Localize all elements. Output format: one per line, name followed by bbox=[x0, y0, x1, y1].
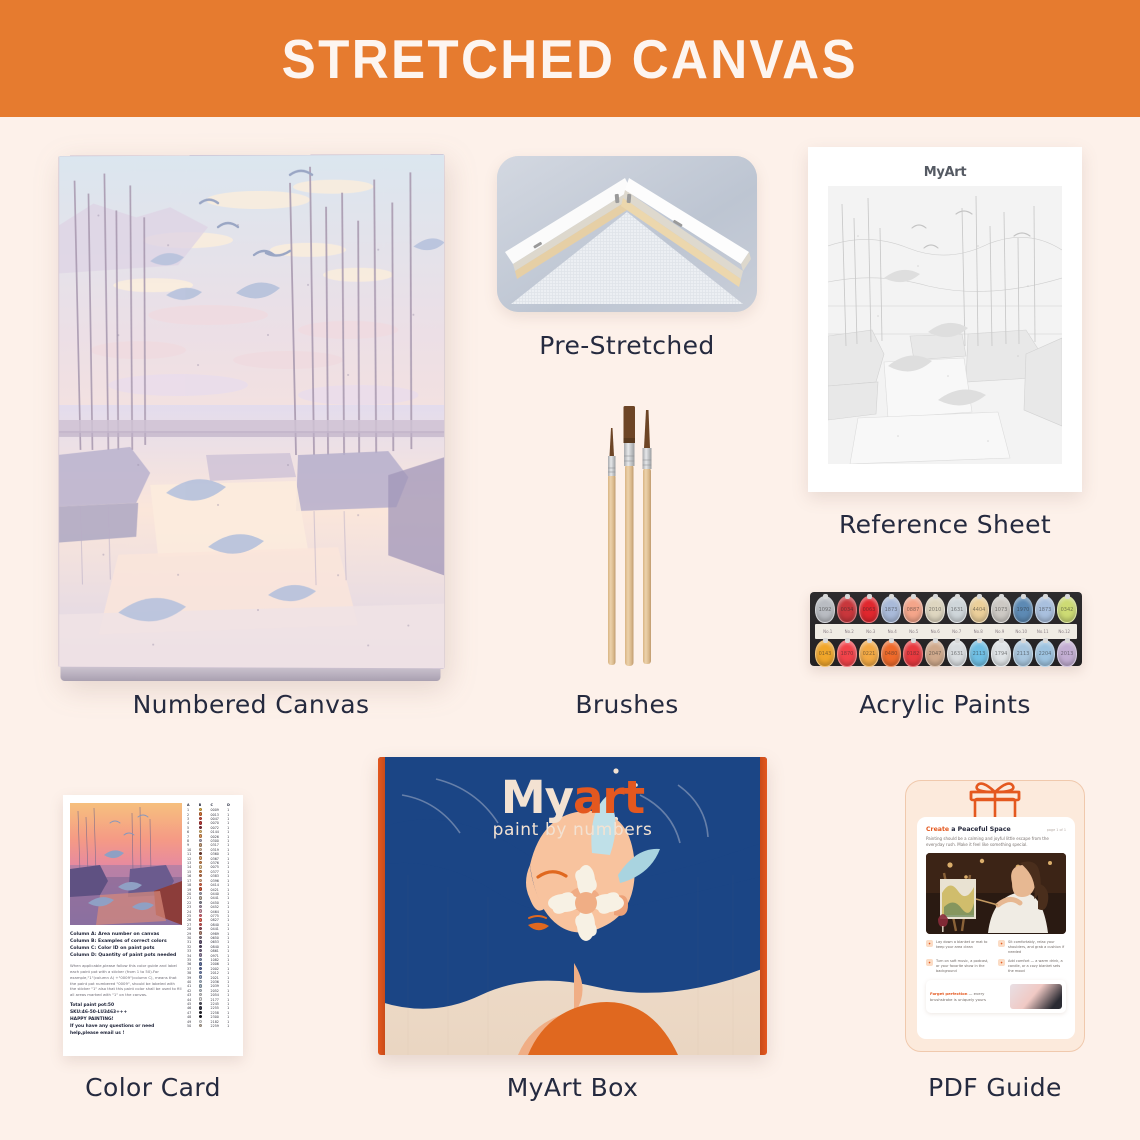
pdf-tip-icon: ✦ bbox=[998, 959, 1005, 966]
color-card-paint-id: 0009 bbox=[211, 808, 228, 812]
color-card-column-desc-3: Column C: Color ID on paint pots bbox=[70, 945, 182, 952]
color-card-area-number: 21 bbox=[187, 896, 199, 900]
color-card-paint-id: 0319 bbox=[211, 848, 228, 852]
paint-pot-bottom-11: 2204 bbox=[1035, 640, 1055, 667]
color-card-area-number: 42 bbox=[187, 989, 199, 993]
paint-pot-id: 4404 bbox=[970, 597, 988, 622]
color-card-quantity: 1 bbox=[227, 870, 236, 874]
color-card-paint-id: 0072 bbox=[211, 826, 228, 830]
color-card-quantity: 1 bbox=[227, 918, 236, 922]
paint-pot-id: 2113 bbox=[970, 641, 988, 666]
color-card-area-number: 47 bbox=[187, 1011, 199, 1015]
color-card-area-number: 10 bbox=[187, 848, 199, 852]
color-card-paint-id: 2021 bbox=[211, 976, 228, 980]
color-card-table-body: 1000912001313004714007015007216014417002… bbox=[187, 808, 236, 1028]
color-card-paint-id: 0013 bbox=[211, 813, 228, 817]
color-card-quantity: 1 bbox=[227, 857, 236, 861]
color-card-paint-id: 0861 bbox=[211, 949, 228, 953]
paint-pot-id: 1631 bbox=[948, 641, 966, 666]
color-card-quantity: 1 bbox=[227, 927, 236, 931]
paint-pot-row-bottom: 0143187002210480018220471631211317942113… bbox=[815, 640, 1077, 667]
color-card-column-desc-2: Column B: Examples of correct colors bbox=[70, 938, 182, 945]
color-card-area-number: 26 bbox=[187, 918, 199, 922]
color-card-quantity: 1 bbox=[227, 962, 236, 966]
box-tagline: paint by numbers bbox=[378, 820, 767, 840]
color-card-th: B bbox=[199, 803, 211, 807]
reference-sheet-artwork bbox=[828, 186, 1062, 464]
paint-pot-id: 0143 bbox=[816, 641, 834, 666]
reference-sheet-product: MyArt bbox=[808, 147, 1082, 492]
acrylic-paints-product: 1092003400631873088720101631440410731970… bbox=[810, 592, 1082, 666]
color-card-area-number: 22 bbox=[187, 901, 199, 905]
color-card-paint-id: 0421 bbox=[211, 888, 228, 892]
color-card-area-number: 46 bbox=[187, 1006, 199, 1010]
color-card-quantity: 1 bbox=[227, 892, 236, 896]
paint-pot-bottom-1: 0143 bbox=[815, 640, 835, 667]
paint-pot-bottom-8: 2113 bbox=[969, 640, 989, 667]
pdf-note-text: Forget perfection — every brushstroke is… bbox=[930, 991, 1005, 1002]
numbered-canvas-product bbox=[58, 155, 444, 668]
pdf-tip-4: ✦Add comfort — a warm drink, a candle, o… bbox=[998, 959, 1065, 974]
paint-strip-cell: No.7 bbox=[946, 629, 968, 634]
color-card-quantity: 1 bbox=[227, 813, 236, 817]
color-card-footer-line-2: SKU:46-50-LU3463+++ bbox=[70, 1009, 182, 1016]
paint-pot-top-3: 0063 bbox=[859, 596, 879, 623]
color-card-quantity: 1 bbox=[227, 852, 236, 856]
paint-pot-bottom-7: 1631 bbox=[947, 640, 967, 667]
color-card-quantity: 1 bbox=[227, 861, 236, 865]
paint-pot-top-6: 2010 bbox=[925, 596, 945, 623]
pdf-tip-icon: ✦ bbox=[926, 940, 933, 947]
color-card-quantity: 1 bbox=[227, 830, 236, 834]
caption-acrylic-paints: Acrylic Paints bbox=[808, 690, 1082, 719]
paint-pot-bottom-9: 1794 bbox=[991, 640, 1011, 667]
caption-color-card: Color Card bbox=[20, 1073, 286, 1102]
color-card-area-number: 9 bbox=[187, 843, 199, 847]
paint-pot-id: 2013 bbox=[1058, 641, 1076, 666]
color-card-paint-id: 2245 bbox=[211, 1002, 228, 1006]
paint-pot-id: 0480 bbox=[882, 641, 900, 666]
paint-strip-cell: No.9 bbox=[989, 629, 1011, 634]
color-card-area-number: 37 bbox=[187, 967, 199, 971]
color-card-columns: Column A: Area number on canvasColumn B:… bbox=[70, 931, 182, 959]
pdf-tip-1: ✦Lay down a blanket or mat to keep your … bbox=[926, 940, 993, 955]
pdf-tip-icon: ✦ bbox=[998, 940, 1005, 947]
color-card-swatch bbox=[199, 1024, 211, 1028]
color-card-paint-id: 0383 bbox=[211, 874, 228, 878]
box-logo-my: My bbox=[501, 771, 573, 824]
color-card-th: A bbox=[187, 803, 199, 807]
color-card-paint-id: 0450 bbox=[211, 901, 228, 905]
color-card-quantity: 1 bbox=[227, 958, 236, 962]
color-card-quantity: 1 bbox=[227, 1015, 236, 1019]
paint-pot-top-8: 4404 bbox=[969, 596, 989, 623]
paint-pot-bottom-3: 0221 bbox=[859, 640, 879, 667]
color-card-instructions: When applicable,please follow this color… bbox=[70, 963, 182, 997]
color-card-paint-id: 2006 bbox=[211, 962, 228, 966]
color-card-quantity: 1 bbox=[227, 826, 236, 830]
color-card-paint-id: 0441 bbox=[211, 927, 228, 931]
color-card-area-number: 31 bbox=[187, 940, 199, 944]
color-card-area-number: 20 bbox=[187, 892, 199, 896]
color-card-paint-id: 0840 bbox=[211, 923, 228, 927]
color-card-quantity: 1 bbox=[227, 945, 236, 949]
paint-chart-strip: No.1No.2No.3No.4No.5No.6No.7No.8No.9No.1… bbox=[815, 624, 1077, 639]
color-card-paint-id: 0144 bbox=[211, 830, 228, 834]
color-card-footer-line-1: Total paint pot:50 bbox=[70, 1002, 182, 1009]
color-card-area-number: 40 bbox=[187, 980, 199, 984]
paint-pot-id: 1873 bbox=[882, 597, 900, 622]
color-card-paint-id: 0971 bbox=[211, 954, 228, 958]
box-logo: Myart paint by numbers bbox=[378, 771, 767, 840]
color-card-paint-id: 2255 bbox=[211, 1006, 228, 1010]
color-card-area-number: 1 bbox=[187, 808, 199, 812]
color-card-area-number: 17 bbox=[187, 879, 199, 883]
color-card-area-number: 5 bbox=[187, 826, 199, 830]
color-card-paint-id: 0070 bbox=[211, 821, 228, 825]
color-card-quantity: 1 bbox=[227, 940, 236, 944]
paint-pot-id: 1073 bbox=[992, 597, 1010, 622]
color-card-area-number: 39 bbox=[187, 976, 199, 980]
color-card-quantity: 1 bbox=[227, 874, 236, 878]
color-card-thumbnail bbox=[70, 803, 182, 925]
paint-pot-top-9: 1073 bbox=[991, 596, 1011, 623]
pdf-title-rest: a Peaceful Space bbox=[951, 826, 1010, 833]
color-card-quantity: 1 bbox=[227, 1002, 236, 1006]
color-card-area-number: 32 bbox=[187, 945, 199, 949]
canvas-face bbox=[59, 154, 445, 669]
brushes-product bbox=[583, 388, 675, 670]
color-card-paint-id: 0464 bbox=[211, 910, 228, 914]
color-card-paint-id: 2002 bbox=[211, 967, 228, 971]
color-card-area-number: 13 bbox=[187, 861, 199, 865]
color-card-paint-id: 0317 bbox=[211, 843, 228, 847]
color-card-area-number: 30 bbox=[187, 936, 199, 940]
color-card-footer: Total paint pot:50SKU:46-50-LU3463+++HAP… bbox=[70, 1002, 182, 1037]
color-card-quantity: 1 bbox=[227, 817, 236, 821]
color-card-area-number: 27 bbox=[187, 923, 199, 927]
paint-pot-top-5: 0887 bbox=[903, 596, 923, 623]
paint-strip-cell: No.10 bbox=[1011, 629, 1033, 634]
color-card-paint-id: 2052 bbox=[211, 989, 228, 993]
paint-strip-cell: No.12 bbox=[1054, 629, 1076, 634]
color-card-quantity: 1 bbox=[227, 835, 236, 839]
color-card-area-number: 28 bbox=[187, 927, 199, 931]
paint-pot-top-4: 1873 bbox=[881, 596, 901, 623]
color-card-paint-id: 0653 bbox=[211, 940, 228, 944]
color-card-quantity: 1 bbox=[227, 1020, 236, 1024]
paint-pot-bottom-10: 2113 bbox=[1013, 640, 1033, 667]
color-card-area-number: 4 bbox=[187, 821, 199, 825]
paint-pot-id: 2010 bbox=[926, 597, 944, 622]
pdf-guide-tips: ✦Lay down a blanket or mat to keep your … bbox=[926, 940, 1066, 974]
pre-stretched-product bbox=[497, 156, 757, 312]
color-card-area-number: 2 bbox=[187, 813, 199, 817]
color-card-area-number: 29 bbox=[187, 932, 199, 936]
color-card-quantity: 1 bbox=[227, 932, 236, 936]
color-card-quantity: 1 bbox=[227, 998, 236, 1002]
color-card-quantity: 1 bbox=[227, 989, 236, 993]
color-card-area-number: 3 bbox=[187, 817, 199, 821]
paint-pot-row-top: 1092003400631873088720101631440410731970… bbox=[815, 596, 1077, 623]
paint-strip-cell: No.4 bbox=[882, 629, 904, 634]
color-card-quantity: 1 bbox=[227, 808, 236, 812]
paint-strip-cell: No.2 bbox=[839, 629, 861, 634]
color-card-paint-id: 0452 bbox=[211, 905, 228, 909]
paint-pot-id: 1631 bbox=[948, 597, 966, 622]
color-card-quantity: 1 bbox=[227, 936, 236, 940]
pdf-tip-text: Sit comfortably, relax your shoulders, a… bbox=[1008, 940, 1065, 955]
color-card-column-desc-1: Column A: Area number on canvas bbox=[70, 931, 182, 938]
color-card-area-number: 7 bbox=[187, 835, 199, 839]
color-card-area-number: 44 bbox=[187, 998, 199, 1002]
paint-strip-cell: No.5 bbox=[903, 629, 925, 634]
color-card-footer-line-4: If you have any questions or need help,p… bbox=[70, 1023, 182, 1037]
color-card-area-number: 49 bbox=[187, 1020, 199, 1024]
color-card-area-number: 16 bbox=[187, 874, 199, 878]
pdf-tip-text: Turn on soft music, a podcast, or your f… bbox=[936, 959, 993, 974]
color-card-quantity: 1 bbox=[227, 1006, 236, 1010]
color-card-area-number: 35 bbox=[187, 958, 199, 962]
color-card-table: ABCD 10009120013130047140070150072160144… bbox=[187, 803, 236, 1048]
color-card-paint-id: 1082 bbox=[211, 958, 228, 962]
paint-pot-id: 0182 bbox=[904, 641, 922, 666]
color-card-paint-id: 2177 bbox=[211, 998, 228, 1002]
box-edge-right bbox=[760, 757, 767, 1055]
color-card-area-number: 45 bbox=[187, 1002, 199, 1006]
box-edge-left bbox=[378, 757, 385, 1055]
color-card-paint-id: 2300 bbox=[211, 1015, 228, 1019]
paint-pot-id: 0034 bbox=[838, 597, 856, 622]
pdf-guide-note: Forget perfection — every brushstroke is… bbox=[926, 980, 1066, 1013]
stretched-frame-photo bbox=[497, 156, 757, 312]
color-card-quantity: 1 bbox=[227, 905, 236, 909]
paint-pot-top-7: 1631 bbox=[947, 596, 967, 623]
pdf-note-thumbnail bbox=[1010, 984, 1062, 1009]
color-card-row: 5022591 bbox=[187, 1024, 236, 1028]
pdf-tip-2: ✦Sit comfortably, relax your shoulders, … bbox=[998, 940, 1065, 955]
color-card-paint-id: 2182 bbox=[211, 1020, 228, 1024]
paint-strip-cell: No.11 bbox=[1032, 629, 1054, 634]
pdf-note-accent: Forget perfection bbox=[930, 991, 967, 996]
color-card-paint-id: 0396 bbox=[211, 879, 228, 883]
color-card-area-number: 36 bbox=[187, 962, 199, 966]
color-card-left: Column A: Area number on canvasColumn B:… bbox=[70, 803, 182, 1048]
color-card-area-number: 19 bbox=[187, 888, 199, 892]
color-card-paint-id: 0775 bbox=[211, 914, 228, 918]
color-card-paint-id: 0367 bbox=[211, 857, 228, 861]
box-logo-art: art bbox=[573, 771, 644, 824]
color-card-quantity: 1 bbox=[227, 865, 236, 869]
paint-pot-top-10: 1970 bbox=[1013, 596, 1033, 623]
paint-pot-bottom-4: 0480 bbox=[881, 640, 901, 667]
color-card-paint-id: 0840 bbox=[211, 945, 228, 949]
canvas-artwork bbox=[59, 154, 445, 669]
pdf-tip-icon: ✦ bbox=[926, 959, 933, 966]
color-card-table-header: ABCD bbox=[187, 803, 236, 807]
pdf-tip-3: ✦Turn on soft music, a podcast, or your … bbox=[926, 959, 993, 974]
color-card-product: Column A: Area number on canvasColumn B:… bbox=[63, 795, 243, 1056]
paint-strip-cell: No.3 bbox=[860, 629, 882, 634]
color-card-area-number: 14 bbox=[187, 865, 199, 869]
color-card-paint-id: 0360 bbox=[211, 852, 228, 856]
color-card-column-desc-4: Column D: Quantity of paint pots needed bbox=[70, 952, 182, 959]
color-card-quantity: 1 bbox=[227, 839, 236, 843]
pdf-guide-product: Create a Peaceful Space page 1 of 1 Pain… bbox=[905, 780, 1085, 1052]
color-card-area-number: 15 bbox=[187, 870, 199, 874]
color-card-quantity: 1 bbox=[227, 888, 236, 892]
color-card-quantity: 1 bbox=[227, 971, 236, 975]
color-card-quantity: 1 bbox=[227, 980, 236, 984]
pdf-guide-page: Create a Peaceful Space page 1 of 1 Pain… bbox=[917, 817, 1075, 1039]
color-card-area-number: 23 bbox=[187, 905, 199, 909]
header-banner: STRETCHED CANVAS bbox=[0, 0, 1140, 117]
color-card-quantity: 1 bbox=[227, 984, 236, 988]
paint-pot-id: 0063 bbox=[860, 597, 878, 622]
color-card-paint-id: 0376 bbox=[211, 861, 228, 865]
page-title: STRETCHED CANVAS bbox=[282, 27, 858, 91]
paint-pot-id: 1794 bbox=[992, 641, 1010, 666]
paint-strip-cell: No.6 bbox=[925, 629, 947, 634]
color-card-quantity: 1 bbox=[227, 976, 236, 980]
color-card-paint-id: 2054 bbox=[211, 993, 228, 997]
color-card-quantity: 1 bbox=[227, 967, 236, 971]
color-card-quantity: 1 bbox=[227, 883, 236, 887]
caption-myart-box: MyArt Box bbox=[378, 1073, 767, 1102]
reference-sheet-logo: MyArt bbox=[828, 165, 1062, 180]
color-card-quantity: 1 bbox=[227, 848, 236, 852]
color-card-quantity: 1 bbox=[227, 879, 236, 883]
color-card-paint-id: 0377 bbox=[211, 870, 228, 874]
color-card-paint-id: 0989 bbox=[211, 932, 228, 936]
color-card-quantity: 1 bbox=[227, 914, 236, 918]
color-card-area-number: 43 bbox=[187, 993, 199, 997]
color-card-quantity: 1 bbox=[227, 1024, 236, 1028]
paint-pot-top-11: 1873 bbox=[1035, 596, 1055, 623]
color-card-paint-id: 2039 bbox=[211, 984, 228, 988]
paint-pot-id: 0887 bbox=[904, 597, 922, 622]
paint-pot-id: 1970 bbox=[1014, 597, 1032, 622]
paint-pot-id: 0342 bbox=[1058, 597, 1076, 622]
pdf-tip-text: Add comfort — a warm drink, a candle, or… bbox=[1008, 959, 1065, 974]
myart-box-product: Myart paint by numbers bbox=[378, 757, 767, 1055]
color-card-paint-id: 0075 bbox=[211, 865, 228, 869]
color-card-area-number: 25 bbox=[187, 914, 199, 918]
color-card-paint-id: 0047 bbox=[211, 817, 228, 821]
pdf-page-number: page 1 of 1 bbox=[1047, 828, 1066, 832]
color-card-paint-id: 2258 bbox=[211, 1011, 228, 1015]
color-card-paint-id: 0026 bbox=[211, 835, 228, 839]
caption-pdf-guide: PDF Guide bbox=[855, 1073, 1135, 1102]
paint-pot-top-1: 1092 bbox=[815, 596, 835, 623]
color-card-area-number: 50 bbox=[187, 1024, 199, 1028]
paint-pot-top-12: 0342 bbox=[1057, 596, 1077, 623]
color-card-quantity: 1 bbox=[227, 843, 236, 847]
color-card-paint-id: 0441 bbox=[211, 896, 228, 900]
color-card-paint-id: 2036 bbox=[211, 980, 228, 984]
paint-pot-id: 2047 bbox=[926, 641, 944, 666]
color-card-paint-id: 0440 bbox=[211, 892, 228, 896]
color-card-area-number: 38 bbox=[187, 971, 199, 975]
pdf-guide-photo bbox=[926, 853, 1066, 934]
color-card-area-number: 8 bbox=[187, 839, 199, 843]
paint-strip-cell: No.8 bbox=[968, 629, 990, 634]
color-card-area-number: 18 bbox=[187, 883, 199, 887]
caption-numbered-canvas: Numbered Canvas bbox=[58, 690, 444, 719]
paint-pot-bottom-2: 1870 bbox=[837, 640, 857, 667]
color-card-area-number: 34 bbox=[187, 954, 199, 958]
paint-pot-id: 0221 bbox=[860, 641, 878, 666]
color-card-paint-id: 0827 bbox=[211, 918, 228, 922]
color-card-footer-line-3: HAPPY PAINTING! bbox=[70, 1016, 182, 1023]
color-card-paint-id: 2259 bbox=[211, 1024, 228, 1028]
color-card-paint-id: 0300 bbox=[211, 839, 228, 843]
color-card-area-number: 6 bbox=[187, 830, 199, 834]
color-card-th: C bbox=[211, 803, 228, 807]
color-card-quantity: 1 bbox=[227, 923, 236, 927]
color-card-quantity: 1 bbox=[227, 949, 236, 953]
paint-pot-id: 1873 bbox=[1036, 597, 1054, 622]
pdf-title-accent: Create bbox=[926, 826, 949, 833]
paint-pot-id: 2113 bbox=[1014, 641, 1032, 666]
pdf-guide-subtitle: Painting should be a calming and joyful … bbox=[926, 836, 1066, 848]
color-card-quantity: 1 bbox=[227, 993, 236, 997]
color-card-area-number: 33 bbox=[187, 949, 199, 953]
color-card-th: D bbox=[227, 803, 236, 807]
paint-strip-cell: No.1 bbox=[817, 629, 839, 634]
color-card-paint-id: 0414 bbox=[211, 883, 228, 887]
pdf-tip-text: Lay down a blanket or mat to keep your a… bbox=[936, 940, 993, 955]
color-card-paint-id: 0650 bbox=[211, 936, 228, 940]
brushes-photo bbox=[583, 388, 675, 670]
color-card-area-number: 12 bbox=[187, 857, 199, 861]
color-card-area-number: 41 bbox=[187, 984, 199, 988]
color-card-quantity: 1 bbox=[227, 910, 236, 914]
paint-pot-id: 1092 bbox=[816, 597, 834, 622]
color-card-paint-id: 2012 bbox=[211, 971, 228, 975]
color-card-area-number: 48 bbox=[187, 1015, 199, 1019]
paint-pot-bottom-12: 2013 bbox=[1057, 640, 1077, 667]
color-card-quantity: 1 bbox=[227, 954, 236, 958]
color-card-area-number: 11 bbox=[187, 852, 199, 856]
paint-pot-bottom-5: 0182 bbox=[903, 640, 923, 667]
color-card-quantity: 1 bbox=[227, 821, 236, 825]
color-card-quantity: 1 bbox=[227, 1011, 236, 1015]
caption-pre-stretched: Pre-Stretched bbox=[497, 331, 757, 360]
color-card-quantity: 1 bbox=[227, 896, 236, 900]
pdf-guide-heading: Create a Peaceful Space page 1 of 1 bbox=[926, 826, 1066, 833]
caption-brushes: Brushes bbox=[497, 690, 757, 719]
paint-pot-id: 2204 bbox=[1036, 641, 1054, 666]
paint-pot-bottom-6: 2047 bbox=[925, 640, 945, 667]
infographic-page: STRETCHED CANVAS bbox=[0, 0, 1140, 1140]
paint-pot-top-2: 0034 bbox=[837, 596, 857, 623]
caption-reference-sheet: Reference Sheet bbox=[808, 510, 1082, 539]
paint-pot-id: 1870 bbox=[838, 641, 856, 666]
color-card-quantity: 1 bbox=[227, 901, 236, 905]
color-card-area-number: 24 bbox=[187, 910, 199, 914]
